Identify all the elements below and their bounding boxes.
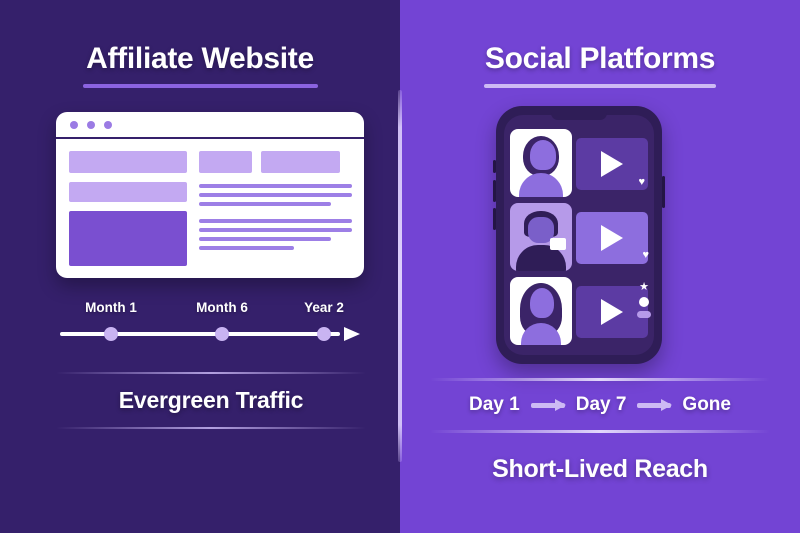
male-avatar — [510, 203, 572, 271]
panel-divider — [398, 90, 402, 462]
text-line — [199, 237, 331, 241]
timeline-track — [60, 327, 360, 341]
left-title-underline — [83, 84, 318, 88]
browser-right-column — [199, 151, 352, 266]
timeline-dot-month-1 — [104, 327, 118, 341]
text-line — [199, 228, 352, 232]
left-title-group: Affiliate Website — [0, 44, 400, 88]
timeline-dot-year-2 — [317, 327, 331, 341]
right-title-underline — [484, 84, 716, 88]
arrow-right-icon — [637, 403, 671, 408]
text-line-group-two — [199, 219, 352, 250]
timeline-labels: Month 1 Month 6 Year 2 — [60, 300, 360, 320]
lifecycle-flow: Day 1 Day 7 Gone — [430, 394, 770, 416]
left-panel-title: Affiliate Website — [0, 44, 400, 74]
star-icon: ★ — [639, 282, 649, 293]
content-chip-wide — [261, 151, 340, 173]
caption-rule-top — [56, 372, 366, 374]
infographic-canvas: Affiliate Website — [0, 0, 800, 533]
phone-power-button — [662, 176, 665, 208]
right-panel-title: Social Platforms — [400, 44, 800, 74]
browser-content — [56, 139, 364, 278]
feed-row: ♥ — [510, 129, 648, 197]
phone-volume-down-button — [493, 208, 496, 230]
play-icon[interactable] — [601, 225, 623, 251]
female-avatar — [510, 277, 572, 345]
right-title-group: Social Platforms — [400, 44, 800, 88]
caption-rule-bottom — [56, 427, 366, 429]
text-line — [199, 202, 331, 206]
right-caption: Short-Lived Reach — [430, 455, 770, 484]
pill-icon — [637, 311, 651, 318]
play-icon[interactable] — [601, 299, 623, 325]
flow-step-day-7: Day 7 — [576, 394, 627, 416]
timeline-label-month-6: Month 6 — [196, 300, 248, 315]
content-chip-small — [199, 151, 252, 173]
text-line — [199, 219, 352, 223]
phone-mute-switch — [493, 160, 496, 173]
heart-icon: ♥ — [642, 250, 649, 261]
text-line-group-one — [199, 184, 352, 206]
window-dot-minimize-icon — [87, 121, 95, 129]
browser-window-mockup — [56, 112, 364, 278]
reaction-icons: ♥ — [642, 250, 649, 261]
timeline-dot-month-6 — [215, 327, 229, 341]
content-block-image — [69, 211, 187, 266]
flow-rule-bottom — [430, 430, 770, 433]
reaction-icons: ★ — [637, 282, 651, 318]
flow-step-gone: Gone — [682, 394, 731, 416]
smartphone-mockup: ♥ ♥ — [496, 106, 662, 364]
heart-icon: ♥ — [638, 177, 645, 188]
panel-affiliate-website: Affiliate Website — [0, 0, 400, 533]
chip-row — [199, 151, 352, 173]
timeline-axis-line — [60, 332, 340, 336]
content-block-subtitle — [69, 182, 187, 202]
browser-titlebar — [56, 112, 364, 139]
timeline-label-year-2: Year 2 — [304, 300, 344, 315]
phone-volume-up-button — [493, 180, 496, 202]
play-icon[interactable] — [601, 151, 623, 177]
feed-row: ★ — [510, 277, 648, 345]
video-thumbnail[interactable]: ♥ — [576, 138, 648, 190]
window-dot-close-icon — [70, 121, 78, 129]
video-thumbnail[interactable]: ♥ — [576, 212, 648, 264]
feed-row: ♥ — [510, 203, 648, 271]
content-block-hero — [69, 151, 187, 173]
phone-notch — [551, 111, 607, 120]
timeline-arrow-icon — [344, 327, 360, 341]
text-line — [199, 193, 352, 197]
circle-icon — [639, 297, 649, 307]
window-dot-maximize-icon — [104, 121, 112, 129]
arrow-right-icon — [531, 403, 565, 408]
timeline-label-month-1: Month 1 — [85, 300, 137, 315]
growth-timeline: Month 1 Month 6 Year 2 — [60, 300, 360, 341]
browser-left-column — [69, 151, 187, 266]
video-thumbnail[interactable]: ★ — [576, 286, 648, 338]
flow-rule-top — [430, 378, 770, 381]
left-caption-group: Evergreen Traffic — [56, 372, 366, 429]
right-caption-group: Day 1 Day 7 Gone Short-Lived Reach — [430, 378, 770, 484]
left-caption: Evergreen Traffic — [56, 387, 366, 414]
phone-screen: ♥ ♥ — [504, 115, 654, 355]
flow-step-day-1: Day 1 — [469, 394, 520, 416]
female-avatar — [510, 129, 572, 197]
reaction-icons: ♥ — [638, 177, 645, 188]
text-line — [199, 184, 352, 188]
text-line — [199, 246, 294, 250]
